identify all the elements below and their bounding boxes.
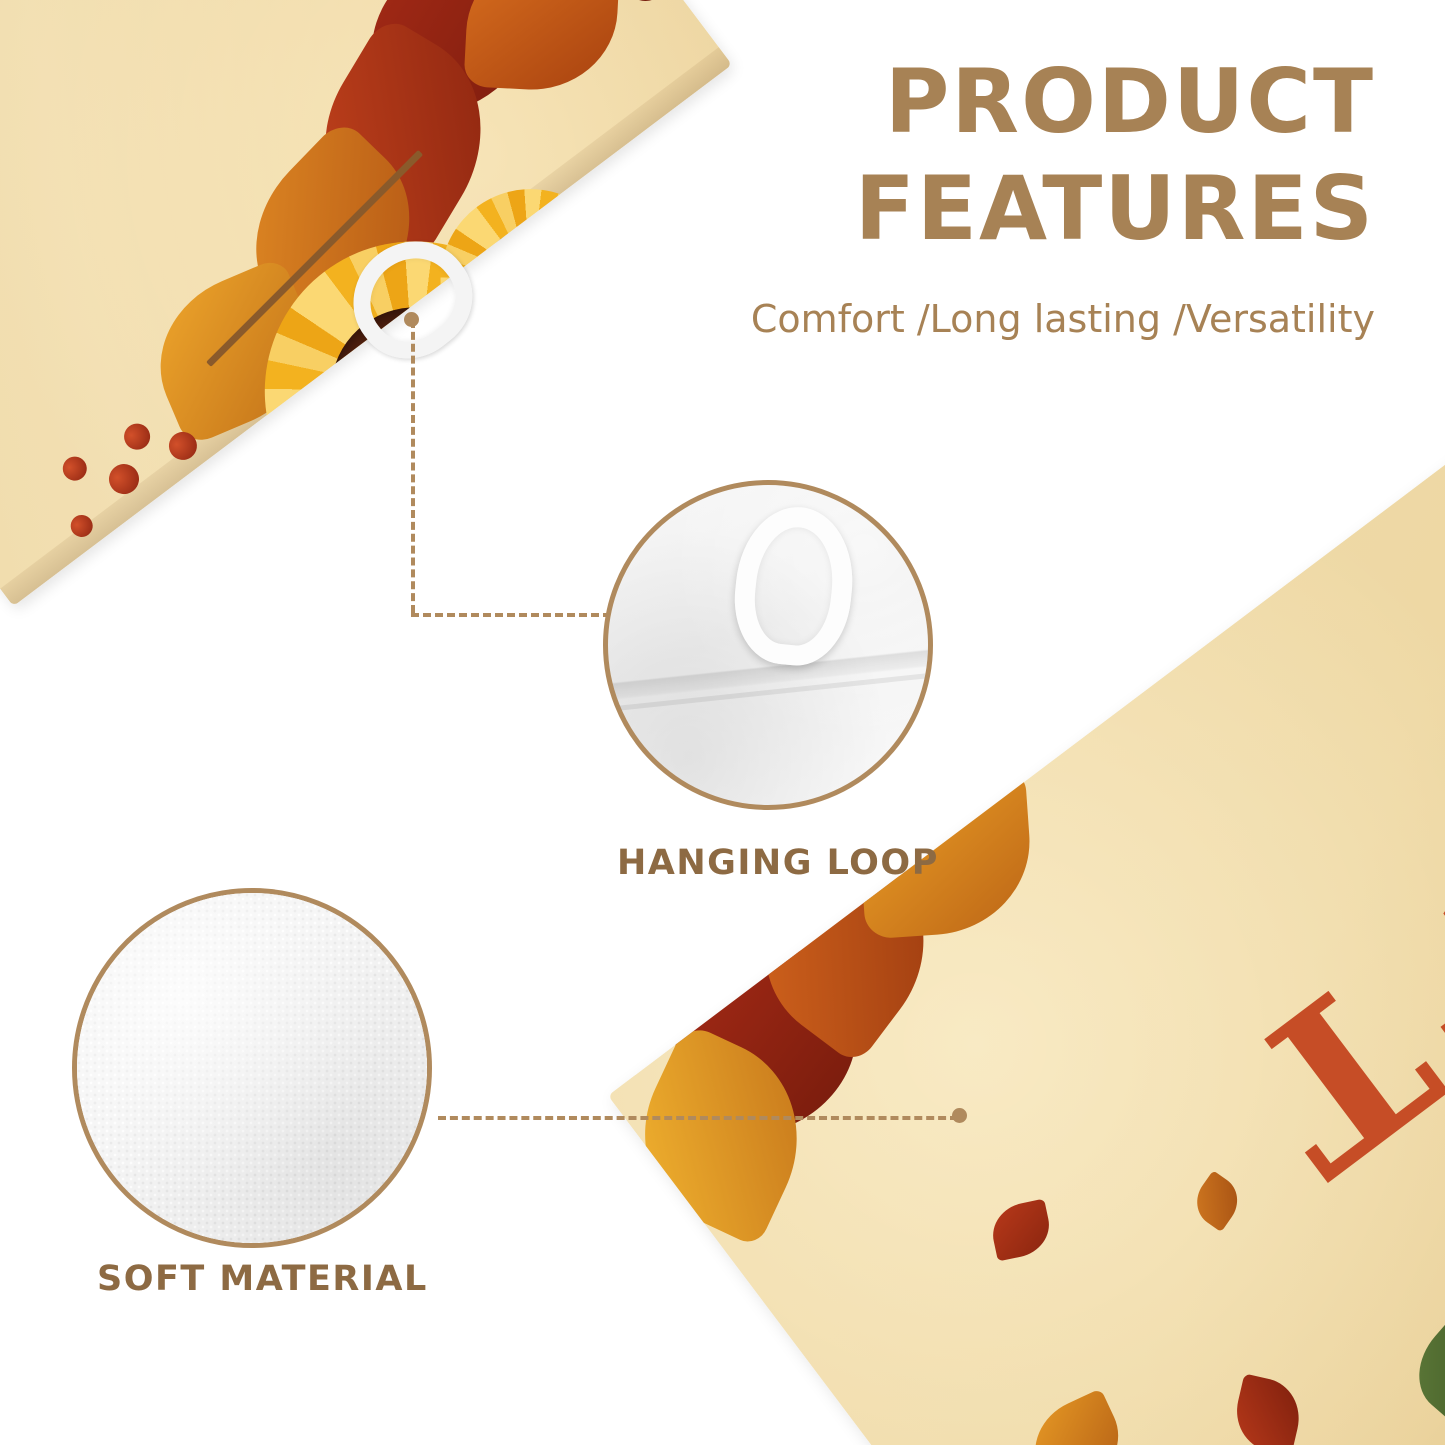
maple-leaf-icon bbox=[1187, 1170, 1248, 1232]
detail-circle-hanging-loop bbox=[603, 480, 933, 810]
page-title-line-2: FEATURES bbox=[655, 155, 1375, 262]
leader-dot-icon bbox=[952, 1108, 967, 1123]
callout-label-soft-material: SOFT MATERIAL bbox=[97, 1259, 428, 1299]
page-subtitle: Comfort /Long lasting /Versatility bbox=[655, 297, 1375, 341]
berry-icon bbox=[119, 418, 155, 454]
detail-circle-soft-material bbox=[72, 888, 432, 1248]
page-title-line-1: PRODUCT bbox=[655, 48, 1375, 155]
oak-leaf-icon bbox=[1400, 1302, 1445, 1429]
maple-leaf-icon bbox=[1019, 1388, 1134, 1445]
terry-shading bbox=[77, 893, 427, 1243]
maple-leaf-icon bbox=[987, 1199, 1055, 1262]
callout-label-hanging-loop: HANGING LOOP bbox=[617, 843, 939, 883]
leader-segment-vertical bbox=[411, 320, 415, 613]
product-features-image: T'S PRODUCT FEATURES Comfort /Long lasti… bbox=[0, 0, 1445, 1445]
leader-segment-horizontal bbox=[438, 1116, 958, 1120]
maple-leaf-icon bbox=[463, 0, 620, 94]
towel-print-text: T'S bbox=[1204, 780, 1445, 1219]
maple-leaf-icon bbox=[1229, 1373, 1307, 1445]
berry-icon bbox=[58, 452, 92, 486]
leader-segment-horizontal bbox=[411, 613, 611, 617]
headline-block: PRODUCT FEATURES Comfort /Long lasting /… bbox=[655, 48, 1375, 341]
